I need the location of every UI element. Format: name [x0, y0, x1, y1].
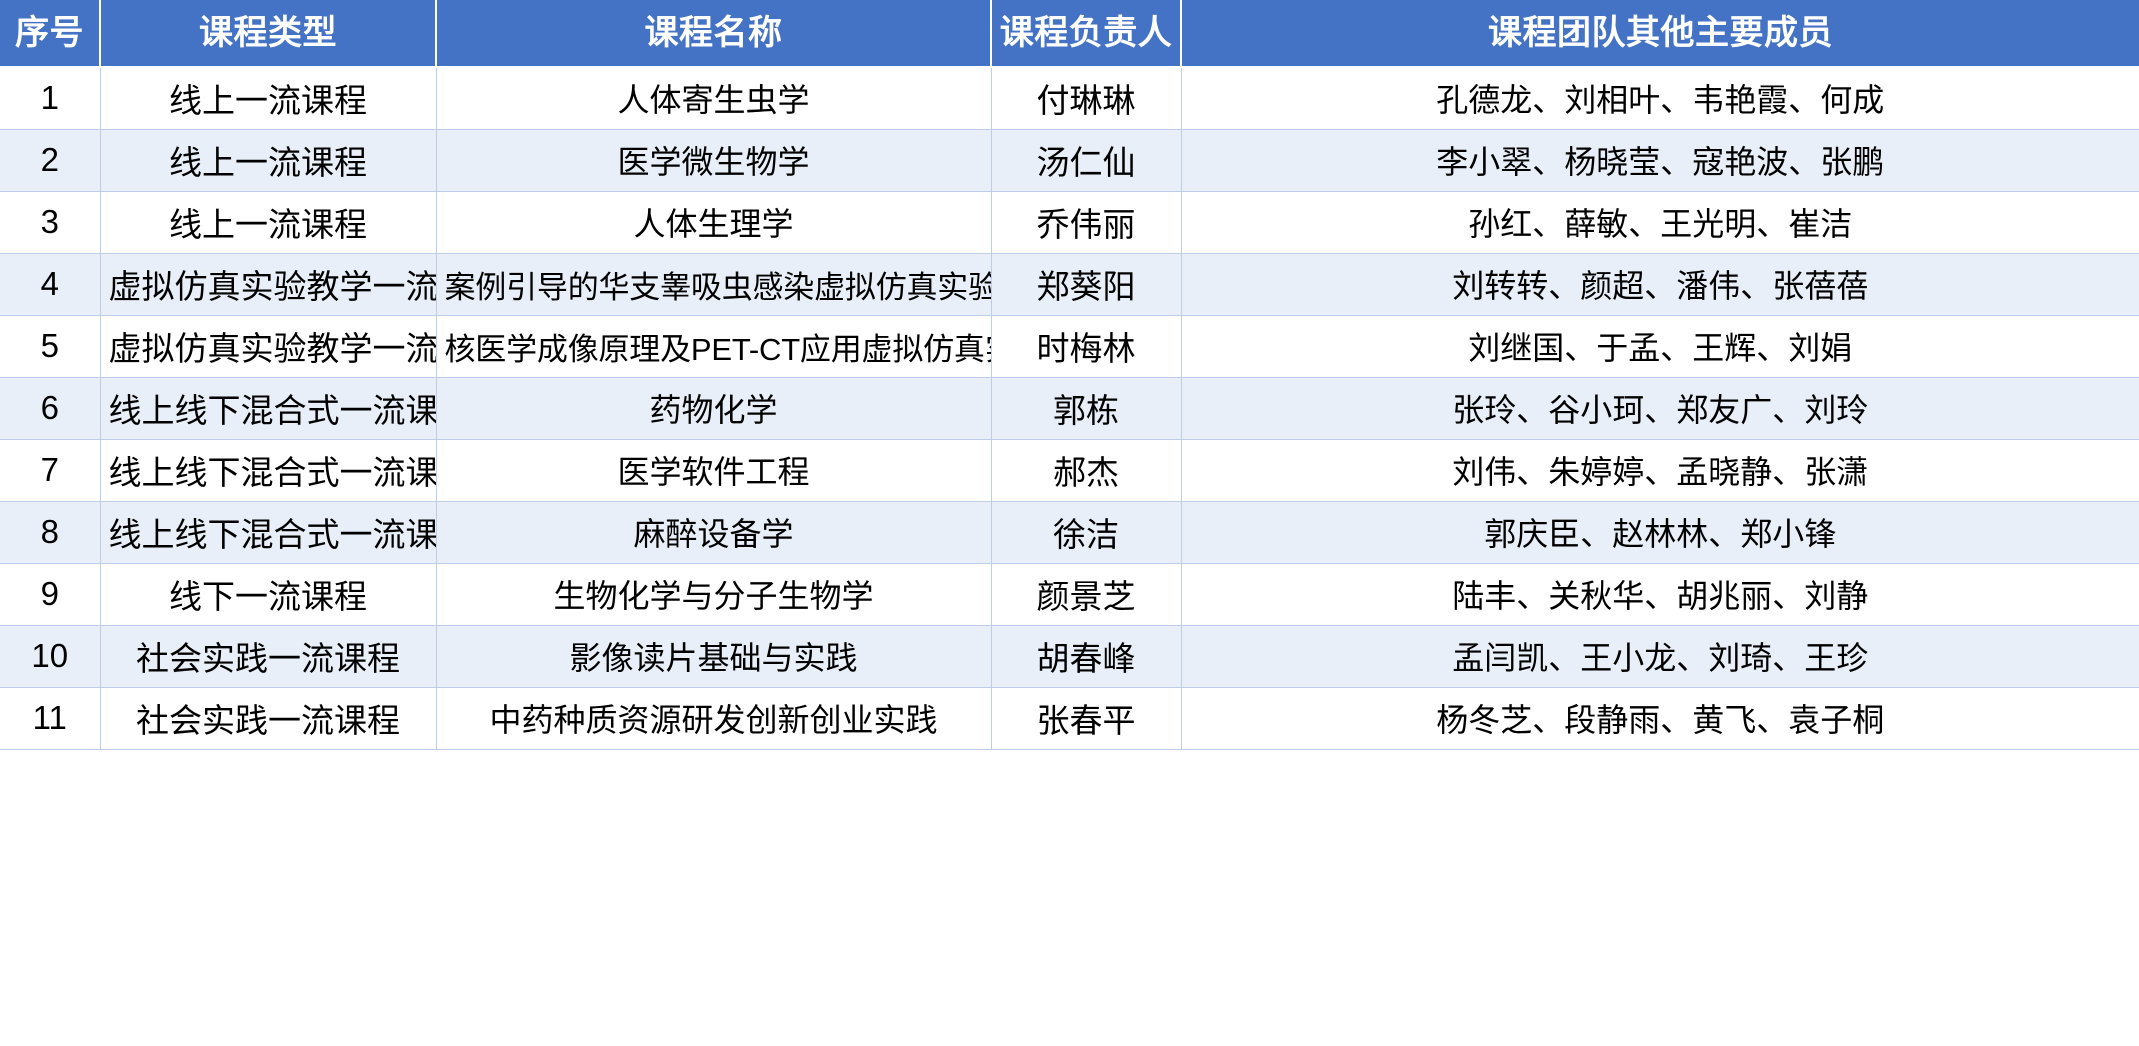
cell-team-members: 郭庆臣、赵林林、郑小锋 [1181, 501, 2139, 563]
cell-course-leader: 郑葵阳 [991, 253, 1181, 315]
cell-course-leader: 付琳琳 [991, 67, 1181, 129]
column-header-type: 课程类型 [100, 0, 436, 67]
cell-team-members: 刘伟、朱婷婷、孟晓静、张潇 [1181, 439, 2139, 501]
cell-index: 4 [0, 253, 100, 315]
cell-course-leader: 徐洁 [991, 501, 1181, 563]
column-header-team: 课程团队其他主要成员 [1181, 0, 2139, 67]
cell-course-name: 医学微生物学 [436, 129, 991, 191]
cell-course-name: 医学软件工程 [436, 439, 991, 501]
cell-course-leader: 时梅林 [991, 315, 1181, 377]
column-header-leader: 课程负责人 [991, 0, 1181, 67]
cell-index: 8 [0, 501, 100, 563]
table-row: 4虚拟仿真实验教学一流课程案例引导的华支睾吸虫感染虚拟仿真实验郑葵阳刘转转、颜超… [0, 253, 2139, 315]
table-body: 1线上一流课程人体寄生虫学付琳琳孔德龙、刘相叶、韦艳霞、何成2线上一流课程医学微… [0, 67, 2139, 749]
cell-index: 2 [0, 129, 100, 191]
cell-team-members: 孙红、薛敏、王光明、崔洁 [1181, 191, 2139, 253]
cell-course-name: 案例引导的华支睾吸虫感染虚拟仿真实验 [436, 253, 991, 315]
cell-index: 5 [0, 315, 100, 377]
cell-course-type: 社会实践一流课程 [100, 687, 436, 749]
table-header-row: 序号 课程类型 课程名称 课程负责人 课程团队其他主要成员 [0, 0, 2139, 67]
cell-course-leader: 张春平 [991, 687, 1181, 749]
table-row: 6线上线下混合式一流课程药物化学郭栋张玲、谷小珂、郑友广、刘玲 [0, 377, 2139, 439]
table-header: 序号 课程类型 课程名称 课程负责人 课程团队其他主要成员 [0, 0, 2139, 67]
cell-team-members: 陆丰、关秋华、胡兆丽、刘静 [1181, 563, 2139, 625]
cell-course-leader: 乔伟丽 [991, 191, 1181, 253]
cell-team-members: 孟闫凯、王小龙、刘琦、王珍 [1181, 625, 2139, 687]
cell-course-leader: 汤仁仙 [991, 129, 1181, 191]
cell-course-leader: 郝杰 [991, 439, 1181, 501]
cell-course-name: 药物化学 [436, 377, 991, 439]
cell-course-type: 社会实践一流课程 [100, 625, 436, 687]
cell-index: 6 [0, 377, 100, 439]
cell-course-leader: 郭栋 [991, 377, 1181, 439]
table-row: 1线上一流课程人体寄生虫学付琳琳孔德龙、刘相叶、韦艳霞、何成 [0, 67, 2139, 129]
cell-course-name: 人体寄生虫学 [436, 67, 991, 129]
cell-team-members: 张玲、谷小珂、郑友广、刘玲 [1181, 377, 2139, 439]
cell-course-leader: 颜景芝 [991, 563, 1181, 625]
table-row: 5虚拟仿真实验教学一流课程核医学成像原理及PET-CT应用虚拟仿真实验时梅林刘继… [0, 315, 2139, 377]
cell-team-members: 刘继国、于孟、王辉、刘娟 [1181, 315, 2139, 377]
cell-course-type: 线上线下混合式一流课程 [100, 377, 436, 439]
table-row: 11社会实践一流课程中药种质资源研发创新创业实践张春平杨冬芝、段静雨、黄飞、袁子… [0, 687, 2139, 749]
cell-course-type: 线上线下混合式一流课程 [100, 439, 436, 501]
cell-course-type: 虚拟仿真实验教学一流课程 [100, 253, 436, 315]
column-header-index: 序号 [0, 0, 100, 67]
cell-index: 10 [0, 625, 100, 687]
cell-course-name: 影像读片基础与实践 [436, 625, 991, 687]
cell-course-name: 中药种质资源研发创新创业实践 [436, 687, 991, 749]
table-row: 10社会实践一流课程影像读片基础与实践胡春峰孟闫凯、王小龙、刘琦、王珍 [0, 625, 2139, 687]
cell-course-name: 生物化学与分子生物学 [436, 563, 991, 625]
course-table-container: 序号 课程类型 课程名称 课程负责人 课程团队其他主要成员 1线上一流课程人体寄… [0, 0, 2139, 1046]
cell-course-type: 线上一流课程 [100, 67, 436, 129]
cell-index: 9 [0, 563, 100, 625]
cell-team-members: 刘转转、颜超、潘伟、张蓓蓓 [1181, 253, 2139, 315]
table-row: 3线上一流课程人体生理学乔伟丽孙红、薛敏、王光明、崔洁 [0, 191, 2139, 253]
cell-index: 7 [0, 439, 100, 501]
cell-course-name: 麻醉设备学 [436, 501, 991, 563]
cell-course-type: 线上线下混合式一流课程 [100, 501, 436, 563]
cell-index: 1 [0, 67, 100, 129]
table-row: 9线下一流课程生物化学与分子生物学颜景芝陆丰、关秋华、胡兆丽、刘静 [0, 563, 2139, 625]
cell-course-type: 线下一流课程 [100, 563, 436, 625]
cell-index: 11 [0, 687, 100, 749]
table-row: 2线上一流课程医学微生物学汤仁仙李小翠、杨晓莹、寇艳波、张鹏 [0, 129, 2139, 191]
course-list-table: 序号 课程类型 课程名称 课程负责人 课程团队其他主要成员 1线上一流课程人体寄… [0, 0, 2139, 750]
cell-course-type: 线上一流课程 [100, 191, 436, 253]
cell-course-leader: 胡春峰 [991, 625, 1181, 687]
cell-course-type: 虚拟仿真实验教学一流课程 [100, 315, 436, 377]
cell-course-name: 人体生理学 [436, 191, 991, 253]
column-header-name: 课程名称 [436, 0, 991, 67]
cell-course-type: 线上一流课程 [100, 129, 436, 191]
cell-course-name: 核医学成像原理及PET-CT应用虚拟仿真实验 [436, 315, 991, 377]
table-row: 8线上线下混合式一流课程麻醉设备学徐洁郭庆臣、赵林林、郑小锋 [0, 501, 2139, 563]
cell-team-members: 杨冬芝、段静雨、黄飞、袁子桐 [1181, 687, 2139, 749]
cell-team-members: 李小翠、杨晓莹、寇艳波、张鹏 [1181, 129, 2139, 191]
cell-index: 3 [0, 191, 100, 253]
cell-team-members: 孔德龙、刘相叶、韦艳霞、何成 [1181, 67, 2139, 129]
table-row: 7线上线下混合式一流课程医学软件工程郝杰刘伟、朱婷婷、孟晓静、张潇 [0, 439, 2139, 501]
